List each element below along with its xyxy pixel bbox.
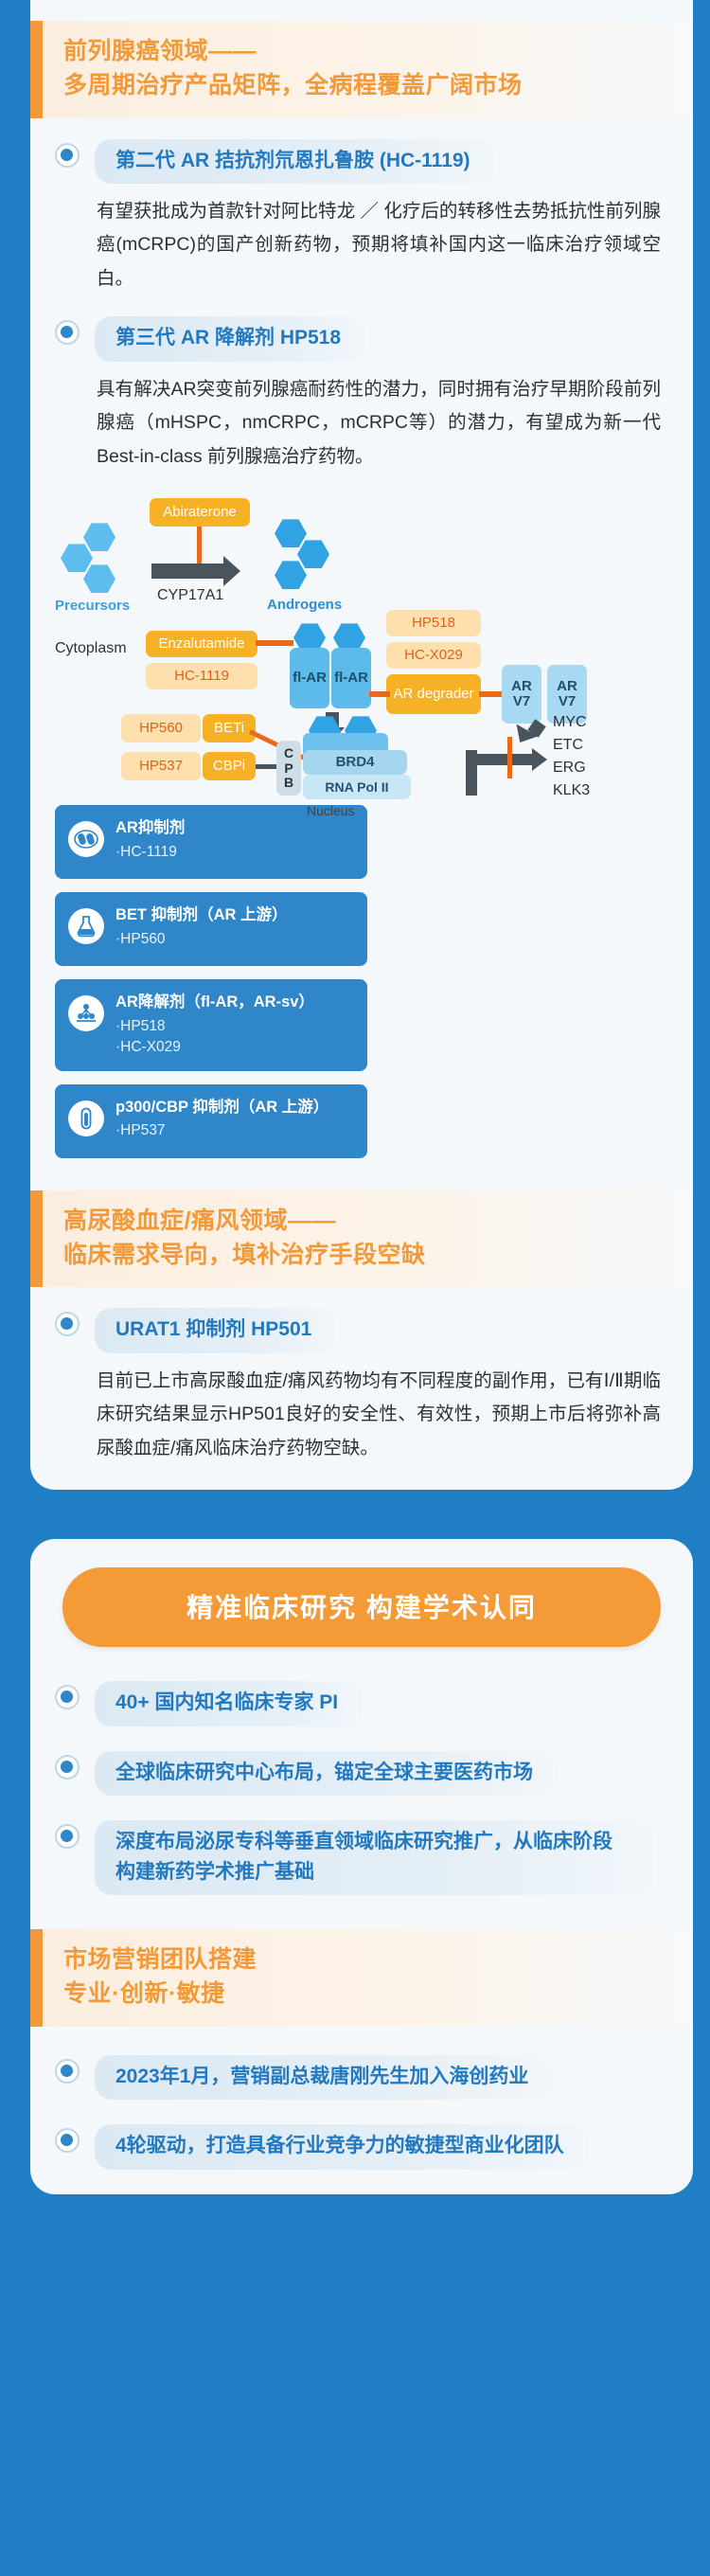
card-subtitle: ·HP518 ·HC-X029 — [115, 1016, 314, 1058]
gene-label-klk3: KLK3 — [553, 782, 590, 799]
card-subtitle: ·HP560 — [115, 929, 288, 950]
chip-brd4: BRD4 — [303, 750, 407, 775]
bullet-row: 第三代 AR 降解剂 HP518 — [30, 295, 693, 362]
cytoplasm-label: Cytoplasm — [55, 640, 127, 657]
chip-cpb: CPB — [276, 741, 301, 796]
bullet-row: 全球临床研究中心布局，锚定全球主要医药市场 — [30, 1726, 693, 1797]
card-title: BET 抑制剂（AR 上游） — [115, 904, 288, 925]
card-subtitle: ·HP537 — [115, 1120, 328, 1141]
chip-abiraterone: Abiraterone — [150, 498, 250, 527]
capsule-icon — [68, 821, 104, 857]
section-header-marketing: 市场营销团队搭建 专业·创新·敏捷 — [30, 1929, 693, 2027]
section-accent-bar — [30, 1929, 43, 2027]
section-header-gout: 高尿酸血症/痛风领域—— 临床需求导向，填补治疗手段空缺 — [30, 1190, 693, 1288]
card-bet-inhibitor[interactable]: BET 抑制剂（AR 上游） ·HP560 — [55, 892, 367, 966]
chip-hp537: HP537 — [121, 752, 201, 780]
section-header-text: 市场营销团队搭建 专业·创新·敏捷 — [43, 1929, 272, 2027]
cyp17a1-arrow-shaft — [151, 563, 225, 579]
chip-fl-ar: fl-AR — [290, 648, 329, 708]
section-header-line1: 市场营销团队搭建 — [63, 1942, 257, 1977]
ar-v7-line2: V7 — [513, 694, 530, 710]
bullet-dot-icon — [55, 320, 80, 345]
bullet-row: 4轮驱动，打造具备行业竞争力的敏捷型商业化团队 — [30, 2100, 693, 2170]
bullet-dot-icon — [55, 1824, 80, 1849]
infographic-page: 前列腺癌领域—— 多周期治疗产品矩阵，全病程覆盖广阔市场 第二代 AR 拮抗剂氘… — [0, 0, 710, 2194]
transcription-arrow-head — [532, 748, 547, 771]
bullet-dot-icon — [55, 1312, 80, 1336]
androgen-hex-icon — [275, 561, 307, 589]
chip-beti: BETi — [203, 714, 256, 742]
bullet-title: 2023年1月，营销副总裁唐刚先生加入海创药业 — [95, 2055, 553, 2101]
bullet-body: 目前已上市高尿酸血症/痛风药物均有不同程度的副作用，已有Ⅰ/Ⅱ期临床研究结果显示… — [30, 1353, 693, 1465]
section-accent-bar — [30, 1190, 43, 1288]
chip-hp560: HP560 — [121, 714, 201, 742]
bullet-row: 深度布局泌尿专科等垂直领域临床研究推广，从临床阶段构建新药学术推广基础 — [30, 1796, 693, 1895]
enzalutamide-inhibit-line — [256, 640, 293, 646]
drug-category-cards: AR抑制剂 ·HC-1119 BET 抑制剂（AR 上游） ·HP560 — [30, 788, 693, 1157]
panel-clinical-research: 精准临床研究 构建学术认同 40+ 国内知名临床专家 PI 全球临床研究中心布局… — [30, 1539, 693, 2194]
flask-icon — [68, 908, 104, 944]
bullet-body: 具有解决AR突变前列腺癌耐药性的潜力，同时拥有治疗早期阶段前列腺癌（mHSPC，… — [30, 362, 693, 474]
card-title: AR抑制剂 — [115, 817, 185, 838]
bullet-dot-icon — [55, 1755, 80, 1780]
chip-hp518: HP518 — [386, 610, 481, 636]
card-p300-cbp-inhibitor[interactable]: p300/CBP 抑制剂（AR 上游） ·HP537 — [55, 1084, 367, 1158]
cpb-b: B — [284, 776, 293, 791]
androgen-hex-icon — [275, 519, 307, 547]
bullet-row: 40+ 国内知名临床专家 PI — [30, 1653, 693, 1726]
precursor-hex-icon — [61, 544, 93, 572]
androgen-hex-icon — [297, 540, 329, 568]
ar-degrader-link-right — [479, 691, 504, 697]
bullet-dot-icon — [55, 1685, 80, 1709]
ar-v7-line1: AR — [557, 679, 577, 695]
bullet-body: 有望获批成为首款针对阿比特龙 ／ 化疗后的转移性去势抵抗性前列腺癌(mCRPC)… — [30, 184, 693, 295]
chip-cbpi: CBPi — [203, 752, 256, 780]
bullet-row: 第二代 AR 拮抗剂氘恩扎鲁胺 (HC-1119) — [30, 118, 693, 185]
clinical-research-title: 精准临床研究 构建学术认同 — [62, 1567, 661, 1647]
cyp17a1-arrow-head — [223, 556, 240, 586]
section-header-line2: 专业·创新·敏捷 — [63, 1977, 257, 2011]
androgens-label: Androgens — [267, 597, 342, 613]
bullet-title: 第三代 AR 降解剂 HP518 — [95, 316, 365, 362]
card-title: p300/CBP 抑制剂（AR 上游） — [115, 1097, 328, 1118]
bullet-dot-icon — [55, 2059, 80, 2084]
section-header-text: 前列腺癌领域—— 多周期治疗产品矩阵，全病程覆盖广阔市场 — [43, 21, 538, 118]
bullet-title: 深度布局泌尿专科等垂直领域临床研究推广，从临床阶段构建新药学术推广基础 — [95, 1820, 653, 1895]
section-header-line2: 多周期治疗产品矩阵，全病程覆盖广阔市场 — [63, 68, 523, 102]
section-header-text: 高尿酸血症/痛风领域—— 临床需求导向，填补治疗手段空缺 — [43, 1190, 441, 1288]
card-ar-degrader[interactable]: AR降解剂（fl-AR，AR-sv） ·HP518 ·HC-X029 — [55, 979, 367, 1070]
ar-degrader-link-left — [369, 691, 390, 697]
chip-ar-v7: ARV7 — [502, 665, 541, 724]
chip-rna-pol-ii: RNA Pol II — [303, 775, 411, 799]
chip-ar-degrader: AR degrader — [386, 674, 481, 714]
gene-label-myc: MYC — [553, 714, 587, 731]
big-title-wrap: 精准临床研究 构建学术认同 — [30, 1539, 693, 1653]
ar-pathway-diagram: Precursors Abiraterone CYP17A1 Androgens… — [55, 498, 693, 782]
bullet-row: URAT1 抑制剂 HP501 — [30, 1287, 693, 1353]
chip-hc-x029: HC-X029 — [386, 642, 481, 669]
gene-label-erg: ERG — [553, 760, 586, 777]
precursors-label: Precursors — [55, 598, 130, 614]
cyp17a1-label: CYP17A1 — [157, 587, 223, 604]
panel-prostate-cancer: 前列腺癌领域—— 多周期治疗产品矩阵，全病程覆盖广阔市场 第二代 AR 拮抗剂氘… — [30, 0, 693, 1490]
card-subtitle: ·HC-1119 — [115, 842, 185, 863]
bullet-title: 40+ 国内知名临床专家 PI — [95, 1681, 363, 1726]
cpb-p: P — [284, 761, 293, 777]
section-header-prostate: 前列腺癌领域—— 多周期治疗产品矩阵，全病程覆盖广阔市场 — [30, 21, 693, 118]
ar-v7-line1: AR — [511, 679, 532, 695]
chip-fl-ar: fl-AR — [331, 648, 371, 708]
chip-enzalutamide: Enzalutamide — [146, 631, 257, 657]
precursor-hex-icon — [83, 564, 115, 593]
molecule-icon — [68, 995, 104, 1031]
bullet-title: 全球临床研究中心布局，锚定全球主要医药市场 — [95, 1751, 558, 1797]
precursor-hex-icon — [83, 523, 115, 551]
test-tube-icon — [68, 1100, 104, 1136]
bullet-title: 第二代 AR 拮抗剂氘恩扎鲁胺 (HC-1119) — [95, 139, 495, 185]
transcription-arrow-horiz — [466, 754, 534, 765]
bullet-title: URAT1 抑制剂 HP501 — [95, 1308, 336, 1353]
nucleus-label: Nucleus — [307, 803, 355, 818]
bullet-row: 2023年1月，营销副总裁唐刚先生加入海创药业 — [30, 2027, 693, 2101]
gene-label-etc: ETC — [553, 737, 583, 754]
cpb-c: C — [284, 746, 293, 761]
panel-gap — [0, 1511, 710, 1539]
transcription-block-line — [507, 737, 512, 778]
card-title: AR降解剂（fl-AR，AR-sv） — [115, 992, 314, 1012]
ar-v7-line2: V7 — [559, 694, 576, 710]
cbpi-link-line — [256, 764, 276, 769]
bullet-dot-icon — [55, 143, 80, 168]
section-header-line2: 临床需求导向，填补治疗手段空缺 — [63, 1238, 426, 1272]
bullet-dot-icon — [55, 2128, 80, 2153]
section-header-line1: 前列腺癌领域—— — [63, 34, 523, 68]
bullet-title: 4轮驱动，打造具备行业竞争力的敏捷型商业化团队 — [95, 2124, 589, 2170]
chip-hc-1119: HC-1119 — [146, 663, 257, 689]
section-header-line1: 高尿酸血症/痛风领域—— — [63, 1204, 426, 1238]
section-accent-bar — [30, 21, 43, 118]
